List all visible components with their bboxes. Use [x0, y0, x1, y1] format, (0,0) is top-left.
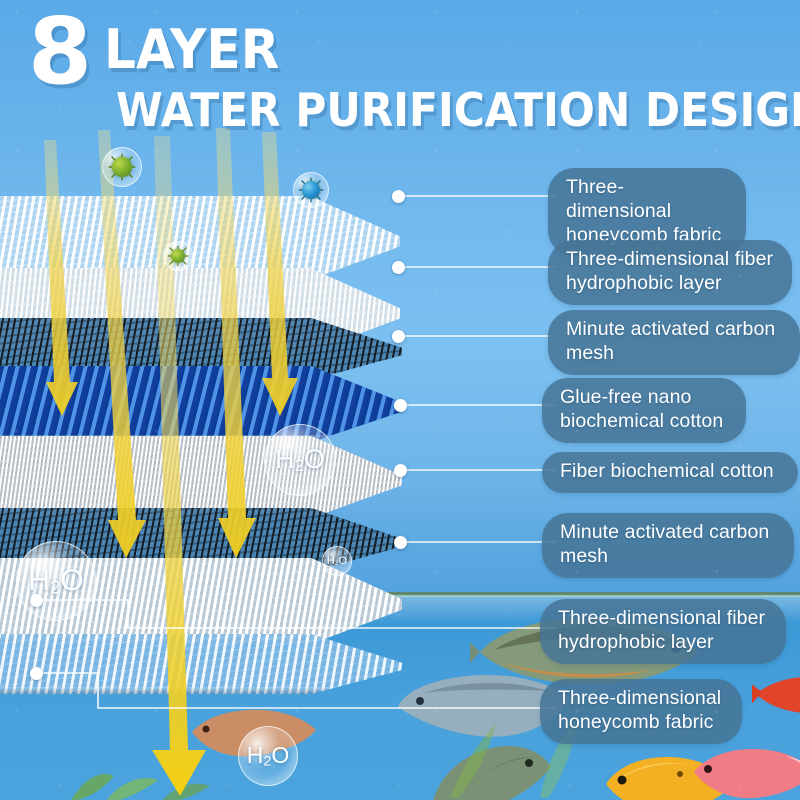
germ-core [112, 157, 132, 177]
title-layer-word: LAYER [104, 18, 279, 81]
title-subtitle: WATER PURIFICATION DESIGN [116, 83, 716, 137]
h2o-bubble-center: H2O [264, 424, 336, 496]
callout-label-4-line1: Glue-free nano [560, 386, 728, 410]
callout-dot-7[interactable] [30, 594, 43, 607]
callout-label-3-line1: Minute activated carbon [566, 318, 782, 342]
callout-label-6-line1: Minute activated carbon [560, 521, 776, 545]
callout-label-8-line2: honeycomb fabric [558, 711, 724, 735]
callout-label-6-line2: mesh [560, 545, 776, 569]
callout-label-5[interactable]: Fiber biochemical cotton [542, 452, 798, 493]
title-layer-count: 8 [28, 14, 90, 89]
callout-label-1-line1: Three-dimensional [566, 176, 728, 224]
callout-dot-8[interactable] [30, 667, 43, 680]
germ-green-top-left [103, 148, 141, 186]
callout-dot-1[interactable] [392, 190, 405, 203]
callout-dot-3[interactable] [392, 330, 405, 343]
callout-label-8-line1: Three-dimensional [558, 687, 724, 711]
fish-gourami-bottom [425, 745, 555, 800]
h2o-label: H2O [275, 444, 325, 476]
callout-label-7[interactable]: Three-dimensional fiber hydrophobic laye… [540, 599, 786, 664]
germ-bubble-blue-right [293, 172, 329, 208]
callout-label-5-line1: Fiber biochemical cotton [560, 460, 780, 484]
infographic-canvas: H2O H2O H2O H2O Three-dimensional honeyc… [0, 0, 800, 800]
title-row-1: 8 LAYER [28, 14, 768, 89]
h2o-label: H2O [247, 742, 289, 770]
callout-label-2-line2: hydrophobic layer [566, 272, 774, 296]
fish-red-edge [752, 668, 800, 720]
callout-dot-4[interactable] [394, 399, 407, 412]
callout-label-4[interactable]: Glue-free nano biochemical cotton [542, 378, 746, 443]
h2o-bubble-small-mid: H2O [322, 546, 352, 576]
title-block: 8 LAYER WATER PURIFICATION DESIGN [28, 14, 768, 137]
callout-label-2[interactable]: Three-dimensional fiber hydrophobic laye… [548, 240, 792, 305]
callout-label-7-line2: hydrophobic layer [558, 631, 768, 655]
callout-dot-5[interactable] [394, 464, 407, 477]
germ-bubble-center [163, 241, 193, 271]
callout-label-3[interactable]: Minute activated carbon mesh [548, 310, 800, 375]
fish-pink [690, 742, 800, 800]
germ-core [302, 181, 320, 199]
h2o-bubble-left: H2O [16, 541, 96, 621]
callout-dot-2[interactable] [392, 261, 405, 274]
germ-blue-right [294, 173, 328, 207]
callout-label-3-line2: mesh [566, 342, 782, 366]
germ-bubble-top-left [102, 147, 142, 187]
h2o-bubble-bottom: H2O [238, 726, 298, 786]
callout-label-7-line1: Three-dimensional fiber [558, 607, 768, 631]
callout-label-8[interactable]: Three-dimensional honeycomb fabric [540, 679, 742, 744]
callout-dot-6[interactable] [394, 536, 407, 549]
callout-label-4-line2: biochemical cotton [560, 410, 728, 434]
callout-label-6[interactable]: Minute activated carbon mesh [542, 513, 794, 578]
callout-label-2-line1: Three-dimensional fiber [566, 248, 774, 272]
h2o-label: H2O [327, 555, 347, 567]
germ-green-center [164, 242, 192, 270]
